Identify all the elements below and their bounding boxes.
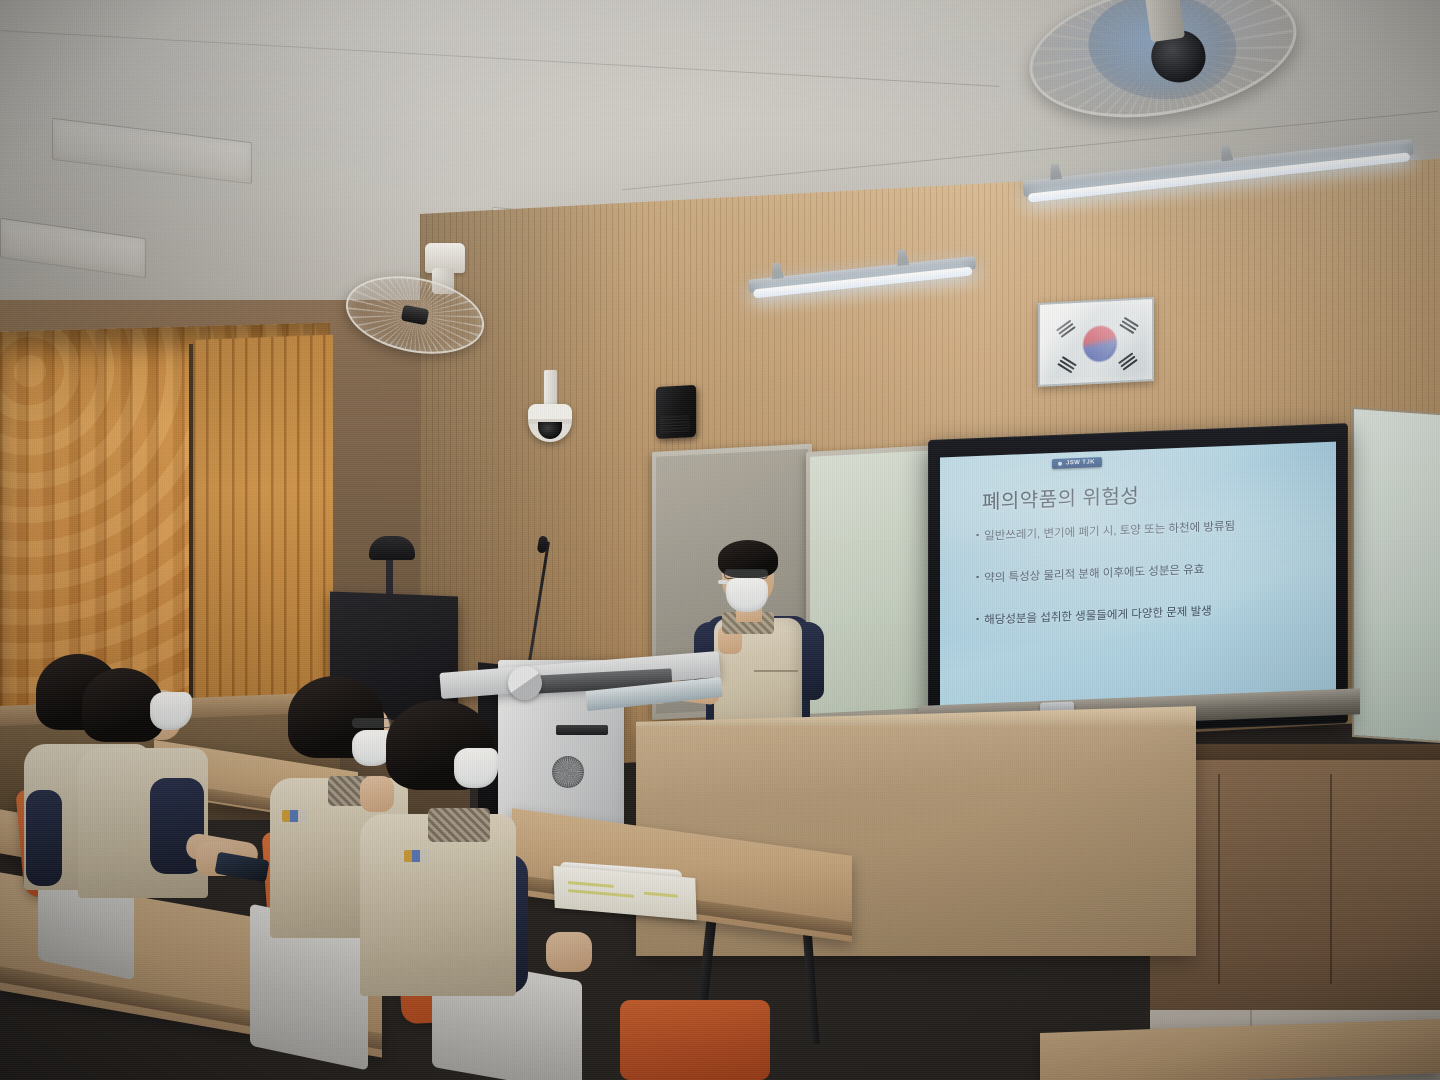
slide-bullet-text: 일반쓰레기, 변기에 폐기 시, 토양 또는 하천에 방류됨 bbox=[984, 518, 1235, 544]
student-face-mask bbox=[150, 692, 192, 730]
flag-glass-glare bbox=[1040, 299, 1152, 385]
student-desk-bottom-right bbox=[1040, 1019, 1440, 1080]
south-korea-flag bbox=[1038, 297, 1154, 387]
slide-bullet-list: • 일반쓰레기, 변기에 폐기 시, 토양 또는 하천에 방류됨 • 약의 특성… bbox=[976, 514, 1316, 654]
slide-bullet-item: • 일반쓰레기, 변기에 폐기 시, 토양 또는 하천에 방류됨 bbox=[976, 514, 1316, 544]
student-sleeve bbox=[26, 790, 62, 886]
badge-dot-icon bbox=[1057, 461, 1063, 467]
slide-badge-label: JSW TJK bbox=[1066, 459, 1095, 466]
slide-logo-badge: JSW TJK bbox=[1052, 457, 1102, 469]
podium-control-strip[interactable] bbox=[556, 725, 608, 735]
student-face-mask bbox=[454, 748, 498, 788]
podium-knob[interactable] bbox=[508, 666, 542, 700]
slide-bullet-item: • 해당성분을 섭취한 생물들에게 다양한 문제 발생 bbox=[976, 598, 1316, 628]
student-hand bbox=[546, 932, 592, 972]
slide-title: 폐의약품의 위험성 bbox=[982, 480, 1139, 515]
camera-lens-icon bbox=[538, 422, 562, 439]
presenter-face-mask bbox=[726, 578, 768, 612]
student-hand bbox=[360, 776, 394, 812]
mask-ear-loop bbox=[718, 580, 728, 584]
slide-bullet-text: 약의 특성상 물리적 분해 이후에도 성분은 유효 bbox=[984, 561, 1204, 586]
bullet-dot-icon: • bbox=[976, 612, 979, 626]
uniform-badge bbox=[404, 850, 430, 862]
bullet-dot-icon: • bbox=[976, 528, 979, 542]
desk-lamp bbox=[369, 536, 415, 560]
bullet-dot-icon: • bbox=[976, 570, 979, 584]
podium-vent-icon bbox=[552, 756, 584, 788]
smartphone[interactable] bbox=[214, 852, 269, 883]
slide-bullet-text: 해당성분을 섭취한 생물들에게 다양한 문제 발생 bbox=[984, 603, 1212, 628]
presentation-slide: JSW TJK 폐의약품의 위험성 • 일반쓰레기, 변기에 폐기 시, 토양 … bbox=[940, 442, 1336, 710]
right-glass-panel bbox=[1352, 407, 1440, 743]
slide-bullet-item: • 약의 특성상 물리적 분해 이후에도 성분은 유효 bbox=[976, 556, 1316, 586]
student-glasses bbox=[352, 718, 392, 728]
classroom-photo: JSW TJK 폐의약품의 위험성 • 일반쓰레기, 변기에 폐기 시, 토양 … bbox=[0, 0, 1440, 1080]
fan-mount-arm-right bbox=[1145, 0, 1185, 42]
vest-pocket-seam bbox=[754, 670, 798, 672]
wall-speaker bbox=[656, 385, 696, 439]
window-curtain-right bbox=[193, 335, 333, 720]
chair-back[interactable] bbox=[620, 1000, 770, 1080]
uniform-badge bbox=[282, 810, 308, 822]
student-plaid-collar bbox=[428, 808, 490, 842]
fan-hub bbox=[401, 305, 430, 326]
